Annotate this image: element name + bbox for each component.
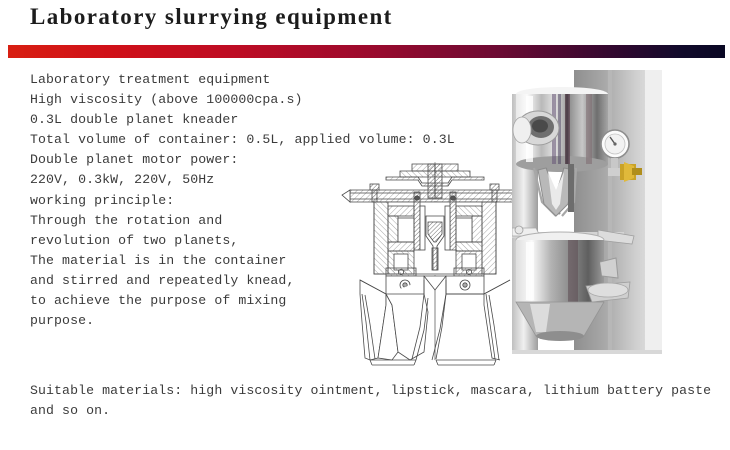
- spec-line: Double planet motor power:: [30, 150, 360, 170]
- page-title: Laboratory slurrying equipment: [30, 4, 393, 30]
- footer-line: Suitable materials: high viscosity ointm…: [30, 381, 710, 401]
- gradient-divider-bar: [8, 45, 725, 58]
- footer-line: and so on.: [30, 401, 710, 421]
- cad-drawing-figure: [340, 162, 530, 372]
- spec-line: to achieve the purpose of mixing: [30, 291, 360, 311]
- spec-line: and stirred and repeatedly knead,: [30, 271, 360, 291]
- spec-line: Total volume of container: 0.5L, applied…: [30, 130, 360, 150]
- suitable-materials-text-block: Suitable materials: high viscosity ointm…: [30, 381, 710, 421]
- specification-text-block: Laboratory treatment equipment High visc…: [30, 70, 360, 331]
- spec-line: Laboratory treatment equipment: [30, 70, 360, 90]
- spec-line: Through the rotation and: [30, 211, 360, 231]
- spec-line: 220V, 0.3kW, 220V, 50Hz: [30, 170, 360, 190]
- spec-line: revolution of two planets,: [30, 231, 360, 251]
- spec-line: working principle:: [30, 191, 360, 211]
- spec-line: The material is in the container: [30, 251, 360, 271]
- product-photo-figure: [512, 64, 662, 374]
- spec-line: 0.3L double planet kneader: [30, 110, 360, 130]
- planetary-mixer-photo-icon: [512, 64, 662, 374]
- mixer-cross-section-icon: [340, 162, 530, 372]
- spec-line: High viscosity (above 100000cpa.s): [30, 90, 360, 110]
- vessel-handle: [600, 258, 618, 278]
- spec-line: purpose.: [30, 311, 360, 331]
